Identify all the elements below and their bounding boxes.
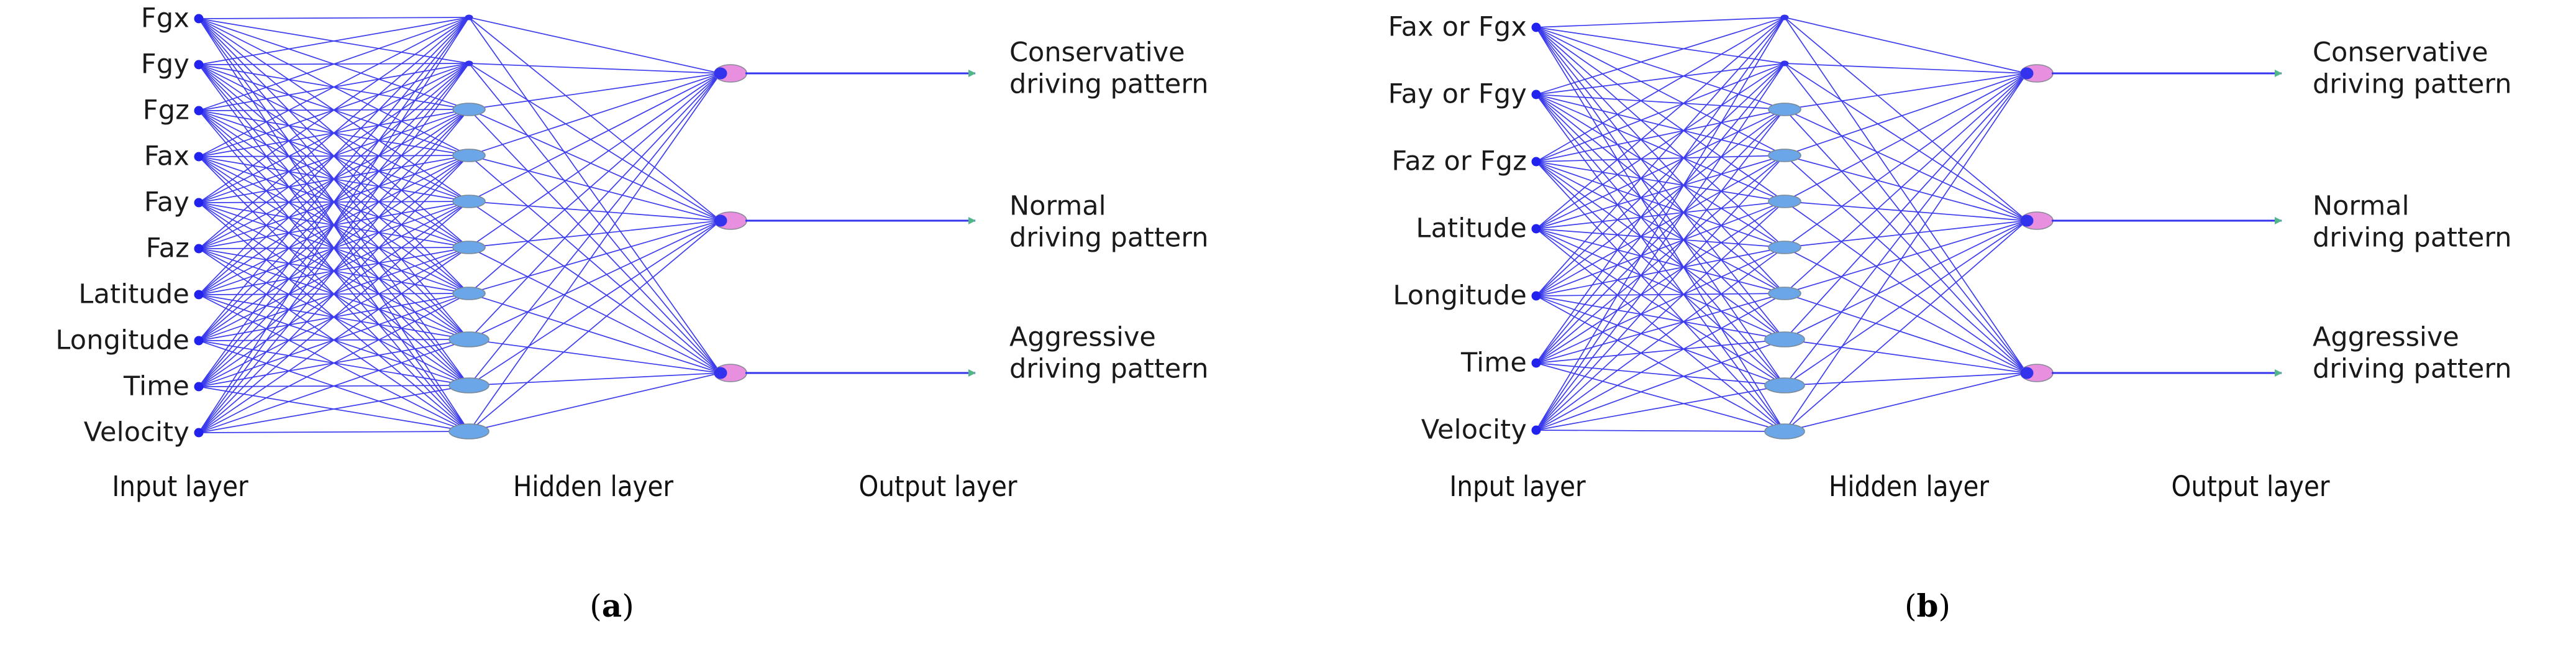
caption-paren-close: ) [1938, 588, 1950, 624]
panel-a-caption: (a) [589, 587, 634, 624]
output-label-line1: Aggressive [2313, 321, 2512, 353]
layer-caption-output: Output layer [858, 472, 1017, 500]
output-label: Aggressive driving pattern [2313, 321, 2512, 384]
layer-caption-input: Input layer [1449, 472, 1585, 500]
output-label: Aggressive driving pattern [1009, 321, 1209, 384]
output-label-line2: driving pattern [1009, 222, 1209, 254]
output-label-line1: Normal [2313, 190, 2512, 222]
output-label-line1: Conservative [1009, 37, 1209, 68]
output-label: Normal driving pattern [1009, 190, 1209, 253]
caption-letter: b [1917, 587, 1939, 624]
panel-b-output-labels: Conservative driving pattern Normal driv… [2313, 0, 2576, 454]
output-label: Conservative driving pattern [2313, 37, 2512, 99]
output-label-line1: Conservative [2313, 37, 2512, 68]
output-label-line1: Aggressive [1009, 321, 1209, 353]
layer-caption-input: Input layer [112, 472, 248, 500]
caption-paren-open: ( [589, 588, 602, 624]
caption-letter: a [602, 587, 622, 624]
layer-caption-hidden: Hidden layer [1829, 472, 1989, 500]
output-label-line1: Normal [1009, 190, 1209, 222]
output-label-line2: driving pattern [1009, 353, 1209, 385]
panel-a-output-labels: Conservative driving pattern Normal driv… [1009, 0, 1277, 454]
output-label-line2: driving pattern [2313, 68, 2512, 100]
output-label: Conservative driving pattern [1009, 37, 1209, 99]
output-label-line2: driving pattern [2313, 222, 2512, 254]
panel-a: Fgx Fgy Fgz Fax Fay Faz Latitude Longitu… [0, 0, 1288, 667]
panel-b-caption: (b) [1905, 587, 1950, 624]
layer-caption-output: Output layer [2171, 472, 2329, 500]
output-label-line2: driving pattern [1009, 68, 1209, 100]
layer-caption-hidden: Hidden layer [513, 472, 673, 500]
caption-paren-open: ( [1905, 588, 1917, 624]
caption-paren-close: ) [622, 588, 634, 624]
output-label: Normal driving pattern [2313, 190, 2512, 253]
panel-b: Fax or Fgx Fay or Fgy Faz or Fgz Latitud… [1288, 0, 2576, 667]
output-label-line2: driving pattern [2313, 353, 2512, 385]
figure-root: Fgx Fgy Fgz Fax Fay Faz Latitude Longitu… [0, 0, 2576, 667]
